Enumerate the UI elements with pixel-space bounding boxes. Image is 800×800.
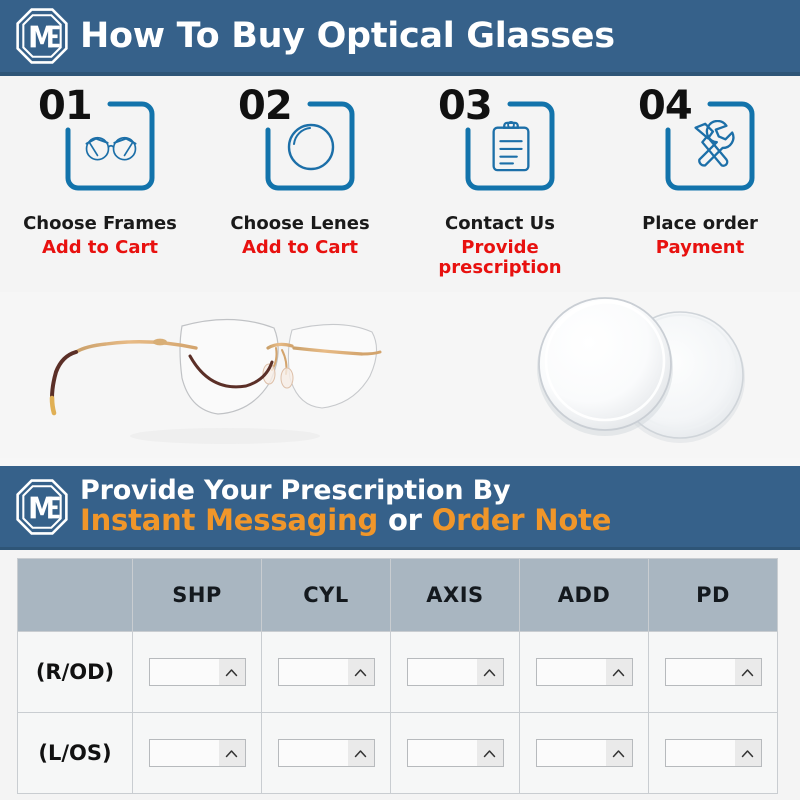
chevron-up-icon[interactable] — [606, 659, 632, 685]
chevron-up-icon[interactable] — [735, 659, 761, 685]
pd-input-right[interactable] — [666, 659, 735, 685]
table-header-cyl: CYL — [262, 559, 391, 632]
cell-shp-left — [133, 713, 262, 794]
chevron-up-icon[interactable] — [219, 740, 245, 766]
step-icon-wrap: 02 — [238, 86, 362, 204]
spinner-field[interactable] — [278, 739, 375, 767]
chevron-up-icon[interactable] — [348, 659, 374, 685]
chevron-up-icon[interactable] — [735, 740, 761, 766]
me-logo-icon — [16, 8, 68, 64]
cell-axis-right — [391, 632, 520, 713]
chevron-up-icon[interactable] — [348, 740, 374, 766]
step-icon-wrap: 03 — [438, 86, 562, 204]
rx-banner-line-1: Provide Your Prescription By — [80, 476, 611, 505]
shp-input-left[interactable] — [150, 740, 219, 766]
table-header-add: ADD — [520, 559, 649, 632]
prescription-table: SHP CYL AXIS ADD PD (R/OD) — [17, 558, 778, 794]
step-item-03: 03 Contact Us Provide prescription — [400, 80, 600, 292]
step-number: 04 — [638, 86, 692, 126]
step-label: Contact Us — [445, 214, 555, 235]
step-item-01: 01 Choose Frames Add to Cart — [0, 80, 200, 292]
row-label-left-eye: (L/OS) — [18, 713, 133, 794]
rx-instant-messaging-text: Instant Messaging — [80, 503, 378, 537]
step-icon-wrap: 04 — [638, 86, 762, 204]
cell-add-left — [520, 713, 649, 794]
lenses-product-image — [480, 292, 800, 456]
cell-cyl-right — [262, 632, 391, 713]
prescription-banner: Provide Your Prescription By Instant Mes… — [0, 466, 800, 550]
chevron-up-icon[interactable] — [477, 740, 503, 766]
step-icon-wrap: 01 — [38, 86, 162, 204]
spinner-field[interactable] — [149, 739, 246, 767]
spinner-field[interactable] — [536, 739, 633, 767]
section-divider — [0, 458, 800, 466]
table-header-axis: AXIS — [391, 559, 520, 632]
step-item-02: 02 Choose Lenes Add to Cart — [200, 80, 400, 292]
cell-pd-right — [649, 632, 778, 713]
chevron-up-icon[interactable] — [477, 659, 503, 685]
eyeglasses-product-image — [10, 294, 420, 454]
row-label-right-eye: (R/OD) — [18, 632, 133, 713]
prescription-banner-text: Provide Your Prescription By Instant Mes… — [80, 476, 611, 536]
cell-pd-left — [649, 713, 778, 794]
cyl-input-left[interactable] — [279, 740, 348, 766]
step-label: Choose Frames — [23, 214, 177, 235]
spinner-field[interactable] — [665, 658, 762, 686]
page-title: How To Buy Optical Glasses — [80, 19, 615, 54]
chevron-up-icon[interactable] — [219, 659, 245, 685]
prescription-table-wrap: SHP CYL AXIS ADD PD (R/OD) — [17, 558, 778, 790]
eyeglasses-icon — [84, 120, 138, 174]
step-label: Place order — [642, 214, 758, 235]
cell-shp-right — [133, 632, 262, 713]
step-sub-label: Add to Cart — [42, 238, 158, 259]
step-item-04: 04 Place order Payment — [600, 80, 800, 292]
step-label: Choose Lenes — [230, 214, 369, 235]
rx-order-note-text: Order Note — [432, 503, 612, 537]
spinner-field[interactable] — [407, 658, 504, 686]
step-number: 03 — [438, 86, 492, 126]
cell-add-right — [520, 632, 649, 713]
rx-connector-text: or — [378, 503, 432, 537]
table-header-row: SHP CYL AXIS ADD PD — [18, 559, 778, 632]
table-header-shp: SHP — [133, 559, 262, 632]
me-logo-icon — [16, 479, 68, 535]
page-header-banner: How To Buy Optical Glasses — [0, 0, 800, 76]
table-row: (R/OD) — [18, 632, 778, 713]
spinner-field[interactable] — [536, 658, 633, 686]
step-sub-label: Provide prescription — [400, 238, 600, 279]
table-header-pd: PD — [649, 559, 778, 632]
axis-input-right[interactable] — [408, 659, 477, 685]
steps-row: 01 Choose Frames Add to Cart — [0, 80, 800, 292]
cyl-input-right[interactable] — [279, 659, 348, 685]
spinner-field[interactable] — [149, 658, 246, 686]
step-sub-label: Add to Cart — [242, 238, 358, 259]
shp-input-right[interactable] — [150, 659, 219, 685]
step-number: 02 — [238, 86, 292, 126]
clipboard-icon — [484, 120, 538, 174]
add-input-right[interactable] — [537, 659, 606, 685]
lens-circle-icon — [284, 120, 338, 174]
spinner-field[interactable] — [665, 739, 762, 767]
hammer-wrench-icon — [684, 120, 738, 174]
axis-input-left[interactable] — [408, 740, 477, 766]
cell-axis-left — [391, 713, 520, 794]
infographic-page: How To Buy Optical Glasses 01 — [0, 0, 800, 800]
spinner-field[interactable] — [278, 658, 375, 686]
step-sub-label: Payment — [656, 238, 744, 259]
pd-input-left[interactable] — [666, 740, 735, 766]
chevron-up-icon[interactable] — [606, 740, 632, 766]
cell-cyl-left — [262, 713, 391, 794]
step-number: 01 — [38, 86, 92, 126]
table-header-blank — [18, 559, 133, 632]
rx-banner-line-2: Instant Messaging or Order Note — [80, 505, 611, 536]
add-input-left[interactable] — [537, 740, 606, 766]
spinner-field[interactable] — [407, 739, 504, 767]
product-showcase — [0, 292, 800, 458]
table-row: (L/OS) — [18, 713, 778, 794]
